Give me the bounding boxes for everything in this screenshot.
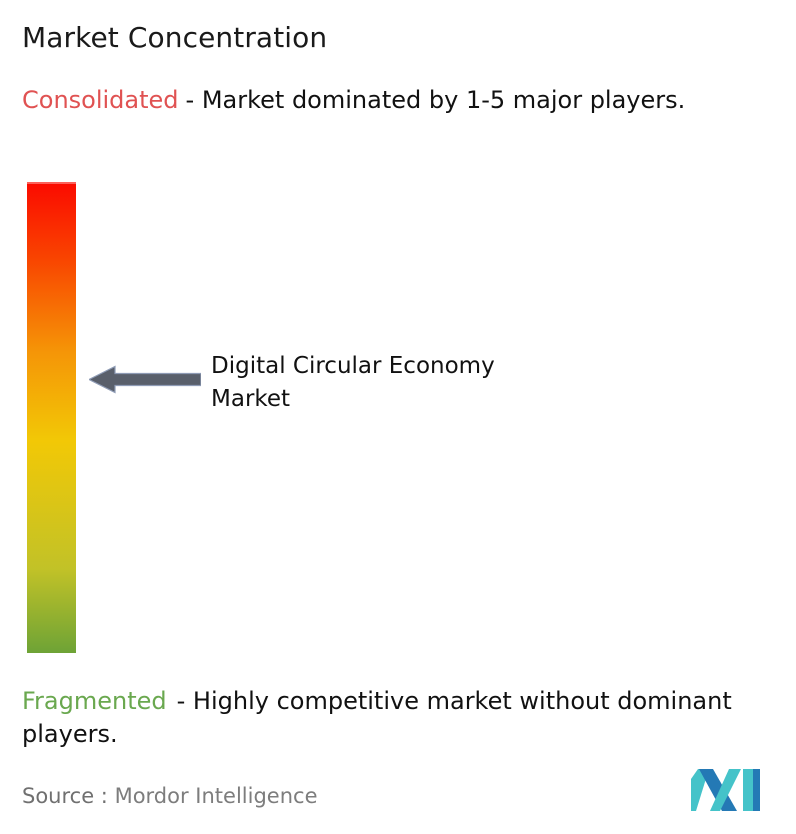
left-arrow-icon bbox=[89, 365, 201, 394]
legend-fragmented: Fragmented- Highly competitive market wi… bbox=[22, 685, 787, 751]
legend-consolidated-description: - Market dominated by 1-5 major players. bbox=[186, 86, 686, 114]
source-attribution: Source : Mordor Intelligence bbox=[22, 781, 317, 811]
page-title: Market Concentration bbox=[22, 18, 327, 58]
marker-label-digital-circular-economy-market: Digital Circular Economy Market bbox=[211, 350, 631, 416]
marker-label-line-2: Market bbox=[211, 383, 631, 416]
mordor-intelligence-logo bbox=[691, 769, 760, 811]
source-label: Source : bbox=[22, 784, 108, 808]
legend-consolidated-term: Consolidated bbox=[22, 86, 179, 114]
source-value: Mordor Intelligence bbox=[115, 784, 318, 808]
legend-consolidated: Consolidated- Market dominated by 1-5 ma… bbox=[22, 84, 767, 117]
market-concentration-gradient-bar bbox=[27, 182, 76, 653]
legend-fragmented-term: Fragmented bbox=[22, 687, 167, 715]
marker-label-line-1: Digital Circular Economy bbox=[211, 350, 631, 383]
